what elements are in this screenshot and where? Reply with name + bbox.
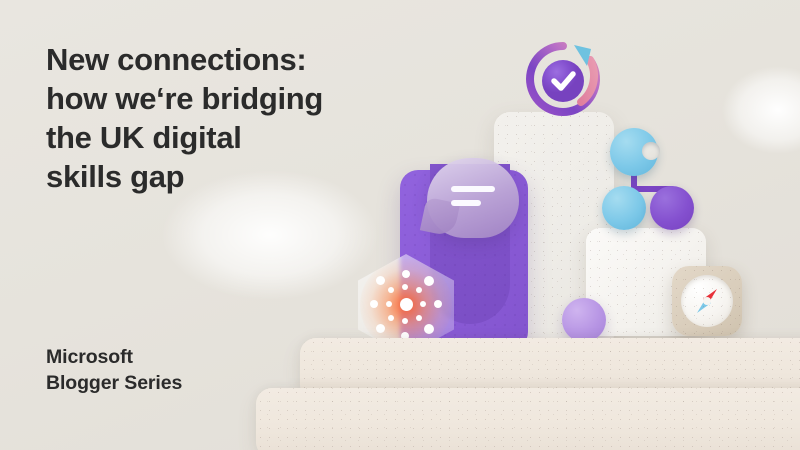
node-bottom-right xyxy=(650,186,694,230)
hex-dot xyxy=(402,284,408,290)
hex-dot xyxy=(402,270,410,278)
pedestal-step-lower xyxy=(256,388,800,450)
speech-bubble-icon xyxy=(427,158,519,238)
hex-dot xyxy=(388,315,394,321)
compass-hub xyxy=(703,297,711,305)
hex-dot xyxy=(434,300,442,308)
hex-dot xyxy=(402,318,408,324)
page-title: New connections: how we‘re bridging the … xyxy=(46,40,406,196)
hex-dot xyxy=(424,324,434,334)
compass-icon xyxy=(672,266,742,336)
hex-dot xyxy=(416,287,422,293)
hex-dot xyxy=(376,324,385,333)
sphere-icon xyxy=(562,298,606,342)
hex-dot xyxy=(376,276,385,285)
hex-dot-center xyxy=(400,298,413,311)
hex-dot xyxy=(370,300,378,308)
hex-dot xyxy=(420,301,426,307)
node-top xyxy=(610,128,658,176)
hex-dot xyxy=(388,287,394,293)
hex-dot xyxy=(386,301,392,307)
bubble-text-line-2 xyxy=(451,200,481,206)
hex-dot xyxy=(416,315,422,321)
hex-dot xyxy=(424,276,434,286)
node-top-hole xyxy=(642,142,660,160)
bubble-text-line-1 xyxy=(451,186,495,192)
hierarchy-nodes-icon xyxy=(594,128,698,230)
series-label: Microsoft Blogger Series xyxy=(46,345,346,396)
node-bottom-left xyxy=(602,186,646,230)
hero-banner: New connections: how we‘re bridging the … xyxy=(0,0,800,450)
compass-face xyxy=(681,275,733,327)
refresh-check-icon xyxy=(520,36,606,122)
check-badge xyxy=(542,60,584,102)
